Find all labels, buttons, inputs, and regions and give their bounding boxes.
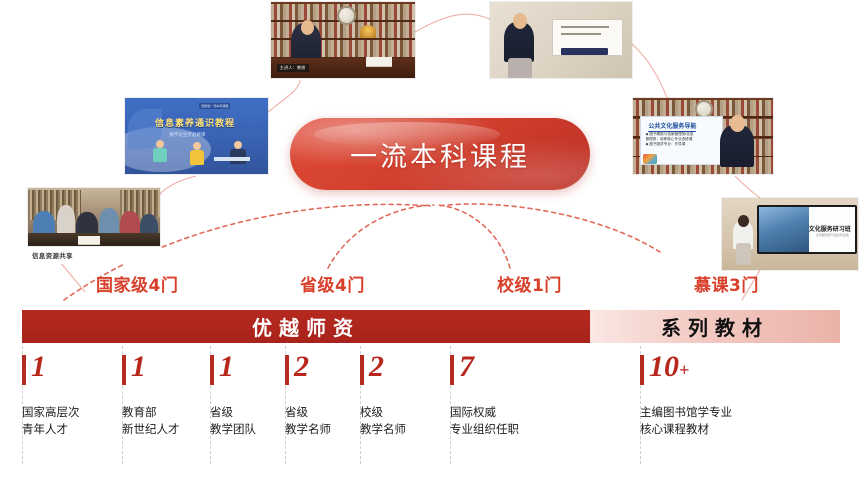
slide-text-line bbox=[561, 33, 601, 35]
institution-emblem-icon bbox=[337, 6, 356, 25]
lecturer-head bbox=[513, 13, 527, 29]
stat-number: 7 bbox=[459, 352, 474, 382]
thumbnail-library-group-photo[interactable] bbox=[28, 188, 160, 246]
lecturer-head bbox=[730, 115, 745, 132]
presenter-lower-body bbox=[736, 243, 751, 265]
course-subtitle: 数字化生存必修课 bbox=[169, 132, 205, 138]
category-label-national[interactable]: 国家级4门 bbox=[96, 271, 178, 296]
stat-accent-bar bbox=[450, 355, 454, 385]
stat-number: 1 bbox=[219, 352, 234, 382]
stat-description: 主编图书馆学专业 核心课程教材 bbox=[640, 404, 840, 437]
stat-accent-bar bbox=[22, 355, 26, 385]
stat-number: 2 bbox=[294, 352, 309, 382]
thumbnail-public-culture-service-lecture[interactable]: 公共文化服务导能 ◆ 图书情报与档案管理类/信息 管理类：培养核心专业选修课 ◆… bbox=[633, 98, 773, 174]
category-label-school[interactable]: 校级1门 bbox=[497, 271, 562, 296]
stat-description: 教育部 新世纪人才 bbox=[122, 404, 210, 437]
stat-item: 7 国际权威 专业组织任职 bbox=[450, 352, 640, 470]
stat-description: 国际权威 专业组织任职 bbox=[450, 404, 640, 437]
course-title: 信息素养通识教程 bbox=[155, 116, 235, 129]
stat-item: 1 省级 教学团队 bbox=[210, 352, 285, 470]
stat-description: 校级 教学名师 bbox=[360, 404, 450, 437]
stat-number: 2 bbox=[369, 352, 384, 382]
center-title-text: 一流本科课程 bbox=[350, 135, 530, 174]
slide-highlight-bar bbox=[561, 48, 608, 55]
stat-item: 2 省级 教学名师 bbox=[285, 352, 360, 470]
center-title-banner[interactable]: 一流本科课程 bbox=[290, 118, 590, 190]
slide-bullets: ◆ 图书情报与档案管理类/信息 管理类：培养核心专业选修课 ◆ 图书馆学专业：先… bbox=[646, 132, 694, 147]
stat-item: 1 国家高层次 青年人才 bbox=[22, 352, 122, 470]
photo-caption: 信息资源共享 bbox=[32, 250, 73, 260]
video-caption-overlay: 主讲人：教授 bbox=[277, 64, 309, 72]
stat-description: 国家高层次 青年人才 bbox=[22, 404, 122, 437]
stat-number-value: 10 bbox=[649, 350, 679, 383]
section-banner: 优越师资 系列教材 bbox=[22, 310, 840, 343]
course-badge: 国家级一流本科课程 bbox=[199, 103, 230, 109]
category-label-provincial[interactable]: 省级4门 bbox=[300, 271, 365, 296]
thumbnail-information-literacy-course[interactable]: 国家级一流本科课程 信息素养通识教程 数字化生存必修课 bbox=[125, 98, 268, 174]
stat-item: 1 教育部 新世纪人才 bbox=[122, 352, 210, 470]
screen-image bbox=[759, 207, 808, 252]
illustrated-desk bbox=[214, 157, 250, 161]
stat-item: 2 校级 教学名师 bbox=[360, 352, 450, 470]
slide-text-line bbox=[561, 26, 609, 28]
banner-segment-faculty[interactable]: 优越师资 bbox=[22, 310, 590, 343]
stat-number: 1 bbox=[131, 352, 146, 382]
illustrated-student-right bbox=[228, 141, 250, 171]
infographic-canvas: 主讲人：教授 国家级一流本科课程 信息素养通识教程 数字化生存必修课 bbox=[0, 0, 863, 494]
slide-title: 公共文化服务导能 bbox=[648, 121, 696, 132]
stat-description: 省级 教学名师 bbox=[285, 404, 360, 437]
stat-accent-bar bbox=[640, 355, 644, 385]
thumbnail-studio-lecture-video[interactable] bbox=[490, 2, 632, 78]
stat-accent-bar bbox=[122, 355, 126, 385]
statistics-row: 1 国家高层次 青年人才 1 教育部 新世纪人才 1 省级 教学团队 2 省级 … bbox=[22, 352, 840, 472]
thumbnail-culture-service-workshop[interactable]: 文化服务研习班 文化服务研习班系列活动 bbox=[722, 198, 858, 270]
stat-number: 10+ bbox=[649, 352, 689, 385]
lecturer-lower-body bbox=[508, 58, 532, 78]
wall-screen: 文化服务研习班 文化服务研习班系列活动 bbox=[757, 205, 856, 254]
thumbnail-library-group-photo-wrapper[interactable]: 信息资源共享 bbox=[28, 188, 160, 264]
illustrated-student-center bbox=[188, 142, 208, 172]
stat-description: 省级 教学团队 bbox=[210, 404, 285, 437]
open-book bbox=[366, 57, 392, 66]
slide-logo-icon bbox=[643, 154, 657, 164]
stat-item: 10+ 主编图书馆学专业 核心课程教材 bbox=[640, 352, 840, 470]
category-label-mooc[interactable]: 慕课3门 bbox=[694, 271, 759, 296]
desk-lamp-icon bbox=[360, 25, 376, 38]
stat-number: 1 bbox=[31, 352, 46, 382]
stat-accent-bar bbox=[210, 355, 214, 385]
banner-right-label: 系列教材 bbox=[661, 312, 769, 341]
thumbnail-lecture-hall-video[interactable]: 主讲人：教授 bbox=[271, 2, 415, 78]
stat-accent-bar bbox=[285, 355, 289, 385]
screen-subtitle: 文化服务研习班系列活动 bbox=[816, 233, 849, 237]
screen-title: 文化服务研习班 bbox=[809, 224, 851, 233]
stat-number-plus: + bbox=[679, 360, 689, 380]
stat-accent-bar bbox=[360, 355, 364, 385]
open-book bbox=[78, 236, 100, 244]
banner-left-label: 优越师资 bbox=[252, 312, 360, 341]
illustrated-student-left bbox=[151, 140, 171, 170]
banner-segment-textbooks[interactable]: 系列教材 bbox=[590, 310, 840, 343]
